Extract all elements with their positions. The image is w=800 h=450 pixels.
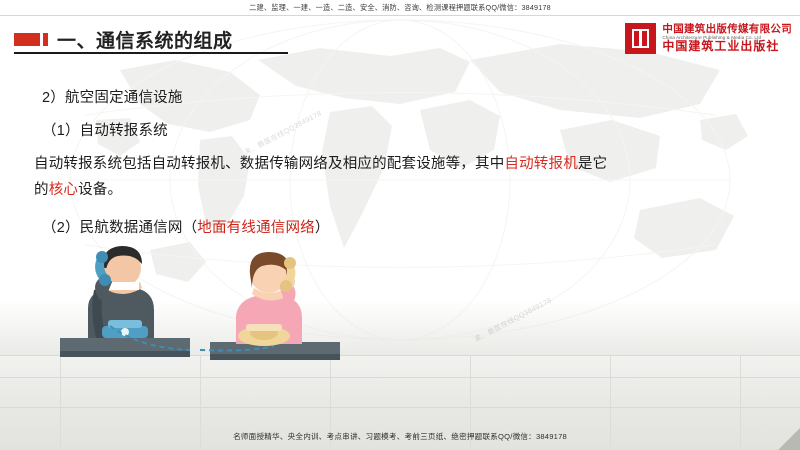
slide-title-bar: 一、通信系统的组成 — [14, 26, 233, 53]
corner-fold — [778, 428, 800, 450]
logo-company-name-cn: 中国建筑出版传媒有限公司 — [662, 23, 792, 35]
top-contact-note: 二建、监理、一建、一造、二造、安全、消防、咨询、检测课程押题联系QQ/微信：38… — [0, 3, 800, 13]
body-line-4: 的核心设备。 — [34, 178, 122, 199]
footer-contact-note: 名师面授精华、央全内训、考点串讲、习题模考、考前三页纸、绝密押题联系QQ/微信：… — [0, 431, 800, 442]
slide-canvas: 二建、监理、一建、一造、二造、安全、消防、咨询、检测课程押题联系QQ/微信：38… — [0, 0, 800, 450]
publisher-mark-icon — [625, 23, 656, 54]
body-line-3: 自动转报系统包括自动转报机、数据传输网络及相应的配套设施等，其中自动转报机是它 — [34, 152, 607, 173]
body-line-3-highlight: 自动转报机 — [504, 156, 578, 172]
title-marker-icon — [14, 33, 48, 46]
body-line-2: （1）自动转报系统 — [42, 119, 168, 140]
body-line-4-part-a: 的 — [34, 182, 49, 198]
logo-press-name: 中国建筑工业出版社 — [662, 40, 792, 54]
illustration-two-callers — [50, 230, 370, 385]
body-line-4-part-b: 设备。 — [78, 182, 122, 198]
page-title: 一、通信系统的组成 — [57, 26, 233, 53]
header-divider — [0, 15, 800, 16]
title-underline — [14, 52, 288, 54]
publisher-logo: 中国建筑出版传媒有限公司 China Architecture Publishi… — [625, 23, 792, 54]
body-line-3-part-a: 自动转报系统包括自动转报机、数据传输网络及相应的配套设施等，其中 — [34, 156, 504, 172]
body-line-4-highlight: 核心 — [49, 182, 78, 198]
body-line-1: 2）航空固定通信设施 — [42, 86, 183, 107]
body-line-3-part-b: 是它 — [578, 156, 607, 172]
